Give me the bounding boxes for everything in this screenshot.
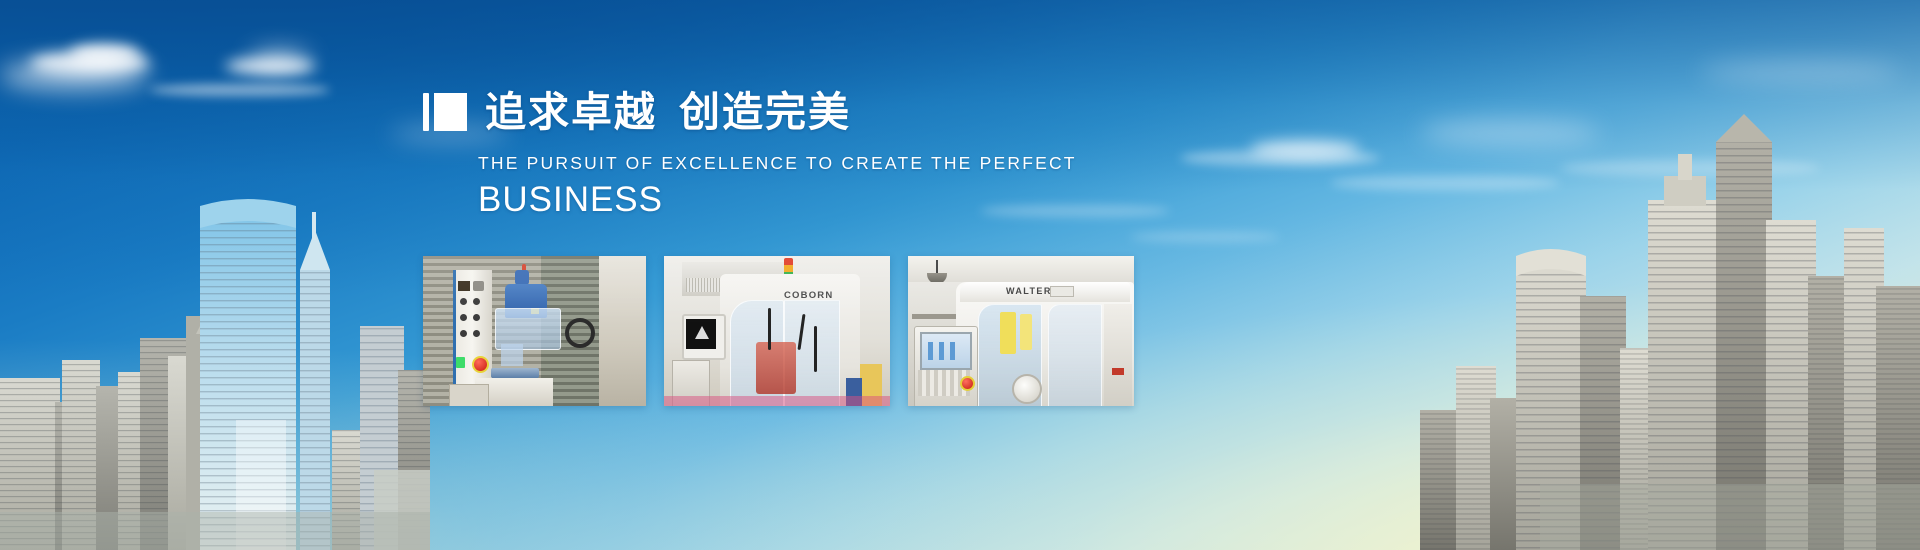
photo-coborn-machine[interactable]: COBORN bbox=[664, 256, 890, 406]
headline-block: 追求卓越创造完美 THE PURSUIT OF EXCELLENCE TO CR… bbox=[423, 88, 1143, 220]
headline-chinese: 追求卓越创造完美 bbox=[485, 89, 851, 135]
photo-walter-machine[interactable]: WALTER bbox=[908, 256, 1134, 406]
hero-banner: 追求卓越创造完美 THE PURSUIT OF EXCELLENCE TO CR… bbox=[0, 0, 1920, 550]
headline-chinese-part2: 创造完美 bbox=[679, 88, 851, 136]
photo-cnc-control-panel[interactable] bbox=[423, 256, 646, 406]
tagline-english: THE PURSUIT OF EXCELLENCE TO CREATE THE … bbox=[478, 153, 1143, 174]
machine-photo-row: COBORN WALTER bbox=[423, 256, 1134, 406]
headline-row: 追求卓越创造完美 bbox=[423, 88, 1143, 136]
headline-chinese-part1: 追求卓越 bbox=[485, 88, 657, 136]
business-word: BUSINESS bbox=[478, 180, 1143, 220]
logo-mark-icon bbox=[423, 93, 467, 131]
